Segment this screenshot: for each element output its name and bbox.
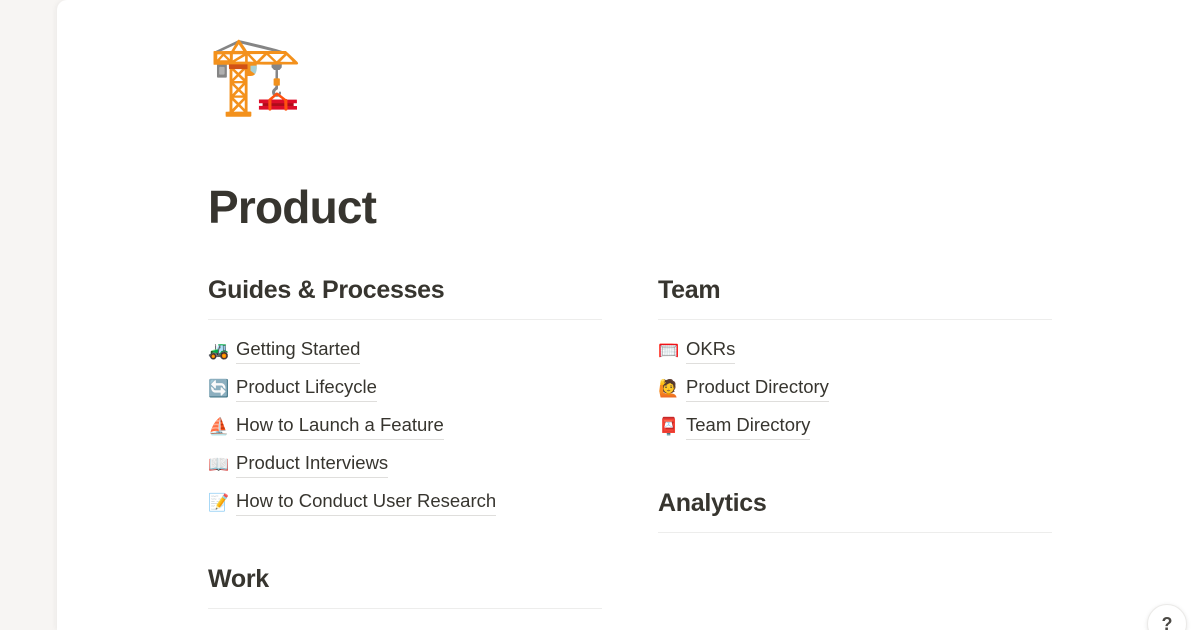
app-root: 🏗️ Product Guides & Processes 🚜 Getting … [0,0,1200,630]
list-item-label: Getting Started [236,337,360,364]
section-heading-analytics: Analytics [658,488,1052,519]
list-item[interactable]: 📖 Product Interviews [208,446,602,484]
list-item-label: Product Lifecycle [236,375,377,402]
page-icon-crane[interactable]: 🏗️ [208,38,1108,130]
section-work: Work [208,564,602,609]
person-raising-hand-emoji: 🙋 [658,380,686,397]
list-item-label: OKRs [686,337,735,364]
page-title: Product [208,182,1108,233]
left-column: Guides & Processes 🚜 Getting Started 🔄 P… [208,275,602,610]
list-item-label: How to Launch a Feature [236,413,444,440]
link-list-team: 🥅 OKRs 🙋 Product Directory 📮 Team Direct… [658,332,1052,446]
list-item[interactable]: 🔄 Product Lifecycle [208,370,602,408]
section-guides-processes: Guides & Processes 🚜 Getting Started 🔄 P… [208,275,602,522]
memo-emoji: 📝 [208,494,236,511]
page-panel: 🏗️ Product Guides & Processes 🚜 Getting … [57,0,1200,630]
section-analytics: Analytics [658,488,1052,533]
sections-grid: Guides & Processes 🚜 Getting Started 🔄 P… [208,275,1108,610]
section-divider [658,532,1052,533]
sidebar-strip [0,0,58,630]
list-item[interactable]: 📮 Team Directory [658,408,1052,446]
goal-net-emoji: 🥅 [658,342,686,359]
list-item[interactable]: ⛵ How to Launch a Feature [208,408,602,446]
list-item[interactable]: 🙋 Product Directory [658,370,1052,408]
list-item-label: Product Interviews [236,451,388,478]
list-item[interactable]: 🥅 OKRs [658,332,1052,370]
section-heading-work: Work [208,564,602,595]
section-team: Team 🥅 OKRs 🙋 Product Directory [658,275,1052,446]
open-book-emoji: 📖 [208,456,236,473]
list-item-label: How to Conduct User Research [236,489,496,516]
postbox-emoji: 📮 [658,418,686,435]
section-divider [208,608,602,609]
link-list-guides-processes: 🚜 Getting Started 🔄 Product Lifecycle ⛵ … [208,332,602,522]
section-divider [658,319,1052,320]
counterclockwise-arrows-emoji: 🔄 [208,380,236,397]
page-content: 🏗️ Product Guides & Processes 🚜 Getting … [208,0,1108,609]
list-item[interactable]: 🚜 Getting Started [208,332,602,370]
sailboat-emoji: ⛵ [208,418,236,435]
section-heading-guides-processes: Guides & Processes [208,275,602,306]
section-divider [208,319,602,320]
tractor-emoji: 🚜 [208,342,236,359]
list-item[interactable]: 📝 How to Conduct User Research [208,484,602,522]
list-item-label: Product Directory [686,375,829,402]
list-item-label: Team Directory [686,413,810,440]
right-column: Team 🥅 OKRs 🙋 Product Directory [658,275,1052,610]
section-heading-team: Team [658,275,1052,306]
